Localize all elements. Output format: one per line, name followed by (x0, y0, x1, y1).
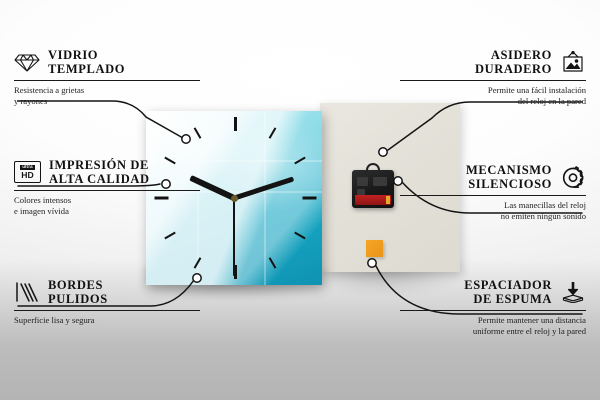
connector-path-asidero (388, 102, 582, 150)
diamond-icon (14, 51, 40, 73)
ultra-hd-icon: ultra HD (14, 161, 41, 183)
diagonal-lines-icon (14, 281, 40, 303)
feature-espaciador-de-espuma: ESPACIADOR DE ESPUMA Permite mantener un… (400, 278, 586, 336)
feature-title: VIDRIO TEMPLADO (48, 48, 125, 76)
feature-divider (14, 190, 200, 191)
hanging-picture-icon (560, 51, 586, 73)
feature-impresion-alta-calidad: ultra HD IMPRESIÓN DE ALTA CALIDAD Color… (14, 158, 200, 216)
feature-divider (14, 80, 200, 81)
feature-description: Permite mantener una distancia uniforme … (400, 315, 586, 336)
feature-title: MECANISMO SILENCIOSO (466, 163, 552, 191)
feature-asidero-duradero: ASIDERO DURADERO Permite una fácil insta… (400, 48, 586, 106)
gear-icon (560, 166, 586, 188)
feature-heading: ESPACIADOR DE ESPUMA (400, 278, 586, 306)
feature-heading: MECANISMO SILENCIOSO (400, 163, 586, 191)
connector-dot-asidero (379, 148, 387, 156)
feature-divider (400, 195, 586, 196)
feature-title: ESPACIADOR DE ESPUMA (464, 278, 552, 306)
feature-divider (14, 310, 200, 311)
feature-description: Resistencia a grietas y rayones (14, 85, 200, 106)
feature-heading: VIDRIO TEMPLADO (14, 48, 200, 76)
feature-heading: ultra HD IMPRESIÓN DE ALTA CALIDAD (14, 158, 200, 186)
connector-path-vidrio (18, 101, 183, 138)
feature-heading: ASIDERO DURADERO (400, 48, 586, 76)
feature-title: BORDES PULIDOS (48, 278, 108, 306)
connector-dot-espaciador (368, 259, 376, 267)
infographic-canvas: VIDRIO TEMPLADO Resistencia a grietas y … (0, 0, 600, 400)
feature-description: Colores intensos e imagen vívida (14, 195, 200, 216)
feature-description: Las manecillas del reloj no emiten ningú… (400, 200, 586, 221)
feature-mecanismo-silencioso: MECANISMO SILENCIOSO Las manecillas del … (400, 163, 586, 221)
ultra-hd-icon-main-label: HD (21, 171, 33, 180)
feature-description: Permite una fácil instalación del reloj … (400, 85, 586, 106)
feature-bordes-pulidos: BORDES PULIDOS Superficie lisa y segura (14, 278, 200, 326)
feature-divider (400, 310, 586, 311)
feature-title: ASIDERO DURADERO (475, 48, 552, 76)
feature-divider (400, 80, 586, 81)
feature-title: IMPRESIÓN DE ALTA CALIDAD (49, 158, 150, 186)
arrow-down-layers-icon (560, 281, 586, 303)
feature-description: Superficie lisa y segura (14, 315, 200, 326)
feature-heading: BORDES PULIDOS (14, 278, 200, 306)
connector-dot-vidrio (182, 135, 190, 143)
feature-vidrio-templado: VIDRIO TEMPLADO Resistencia a grietas y … (14, 48, 200, 106)
